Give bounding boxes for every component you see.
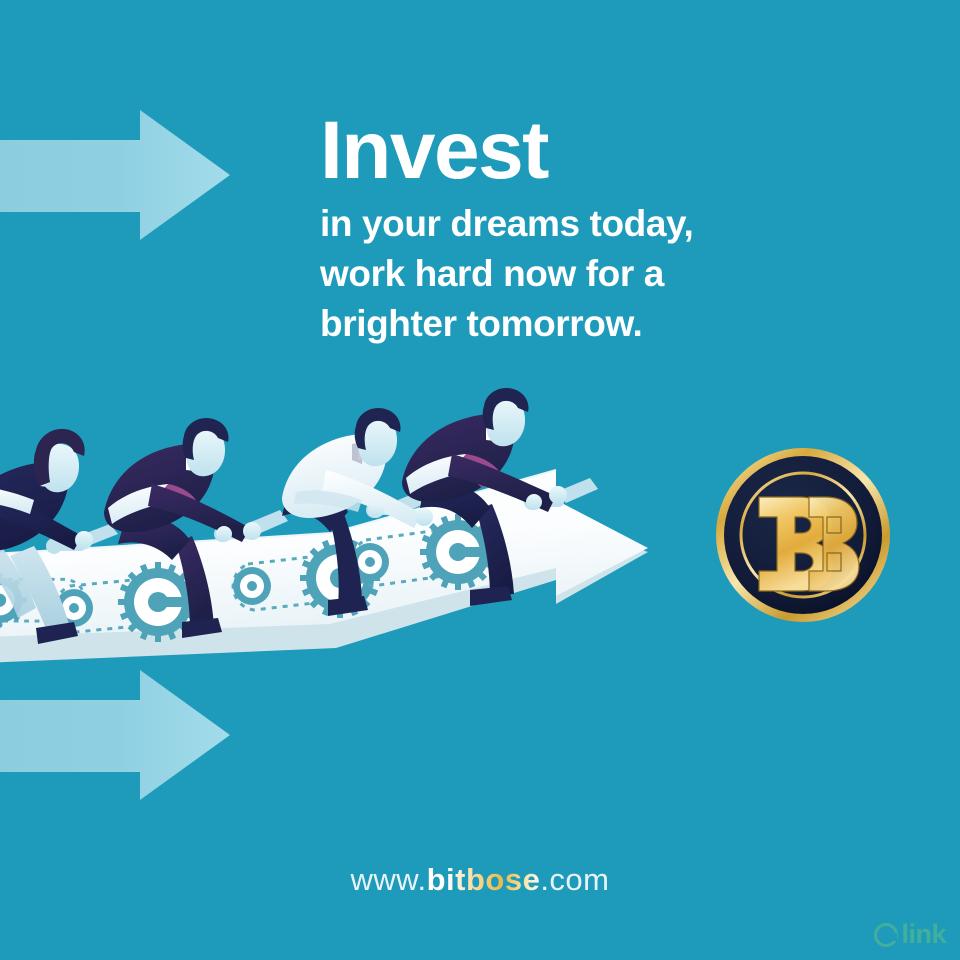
watermark-label: link (901, 921, 946, 948)
page-title: Invest (320, 112, 840, 191)
subheading-line-3: brighter tomorrow. (320, 299, 840, 349)
headline-copy-block: Invest in your dreams today, work hard n… (320, 112, 840, 350)
link-watermark: link (874, 921, 946, 948)
url-brand: bitbose (427, 862, 541, 897)
subheading: in your dreams today, work hard now for … (320, 199, 840, 350)
poster-canvas: Invest in your dreams today, work hard n… (0, 0, 960, 960)
logo-coin[interactable] (716, 448, 890, 622)
url-prefix: www. (351, 862, 427, 897)
url-suffix: .com (540, 862, 609, 897)
footer-website-url[interactable]: www.bitbose.com (0, 862, 960, 898)
subheading-line-2: work hard now for a (320, 249, 840, 299)
subheading-line-1: in your dreams today, (320, 199, 840, 249)
circle-link-icon (874, 923, 898, 947)
